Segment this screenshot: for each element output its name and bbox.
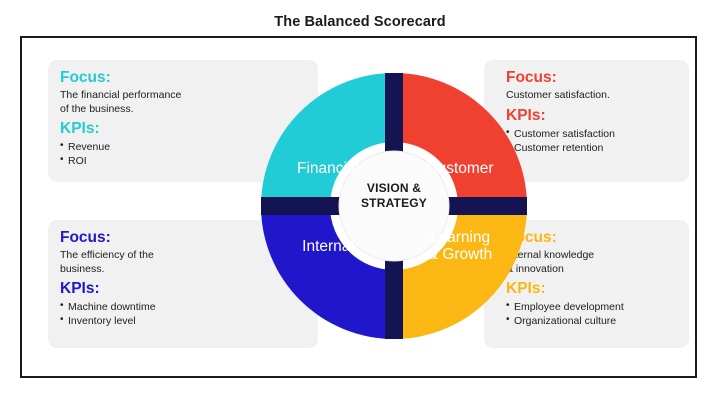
financial-focus-line1: The financial performance xyxy=(60,89,181,101)
internal-focus-line1: The efficiency of the xyxy=(60,249,154,261)
balanced-scorecard-wheel: Financial Customer Internal Learning & G… xyxy=(244,56,544,356)
diagram-frame: Focus: The financial performance of the … xyxy=(20,36,697,378)
wheel-svg xyxy=(244,56,544,356)
internal-focus-line2: business. xyxy=(60,263,104,275)
page-title: The Balanced Scorecard xyxy=(0,14,720,30)
vision-strategy-hub xyxy=(339,151,449,261)
financial-focus-line2: of the business. xyxy=(60,103,134,115)
